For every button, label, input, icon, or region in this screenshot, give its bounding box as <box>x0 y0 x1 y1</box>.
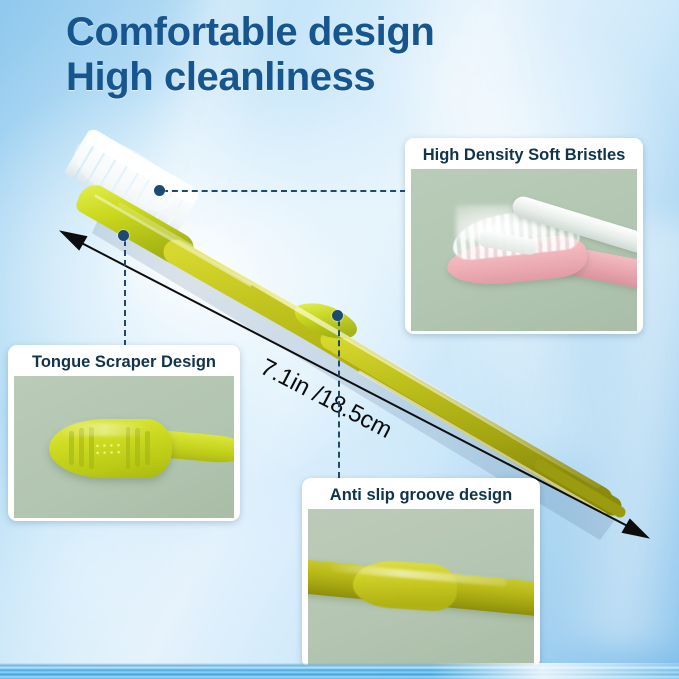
callout-card-scraper[interactable]: Tongue Scraper Design <box>8 345 240 521</box>
callout-card-bristles[interactable]: High Density Soft Bristles <box>405 138 643 334</box>
leader-line-scraper <box>124 240 126 346</box>
scraper-highlight <box>58 423 150 436</box>
callout-title-bristles: High Density Soft Bristles <box>411 143 637 166</box>
leader-line-groove <box>338 320 340 478</box>
headline-line-2: High cleanliness <box>66 55 434 100</box>
connector-dot-scraper <box>118 230 129 241</box>
measurement-label: 7.1in /18.5cm <box>256 354 397 445</box>
callout-photo-groove <box>308 509 534 665</box>
bottom-accent-strip <box>0 663 679 679</box>
leader-line-bristles <box>162 190 406 192</box>
page-title: Comfortable design High cleanliness <box>66 10 434 100</box>
connector-dot-bristles <box>154 185 165 196</box>
bristle-tufts <box>63 124 201 238</box>
brush-head <box>76 185 193 264</box>
headline-line-1: Comfortable design <box>66 10 434 54</box>
scraper-dots <box>93 441 123 456</box>
infographic-canvas: Comfortable design High cleanliness <box>0 0 679 679</box>
callout-photo-bristles <box>411 169 637 331</box>
callout-card-groove[interactable]: Anti slip groove design <box>302 478 540 668</box>
bottom-strip-glow <box>430 663 679 679</box>
callout-title-groove: Anti slip groove design <box>308 483 534 506</box>
callout-photo-scraper <box>14 376 234 518</box>
connector-dot-groove <box>332 310 343 321</box>
callout-title-scraper: Tongue Scraper Design <box>14 350 234 373</box>
anti-slip-grip <box>295 303 357 338</box>
